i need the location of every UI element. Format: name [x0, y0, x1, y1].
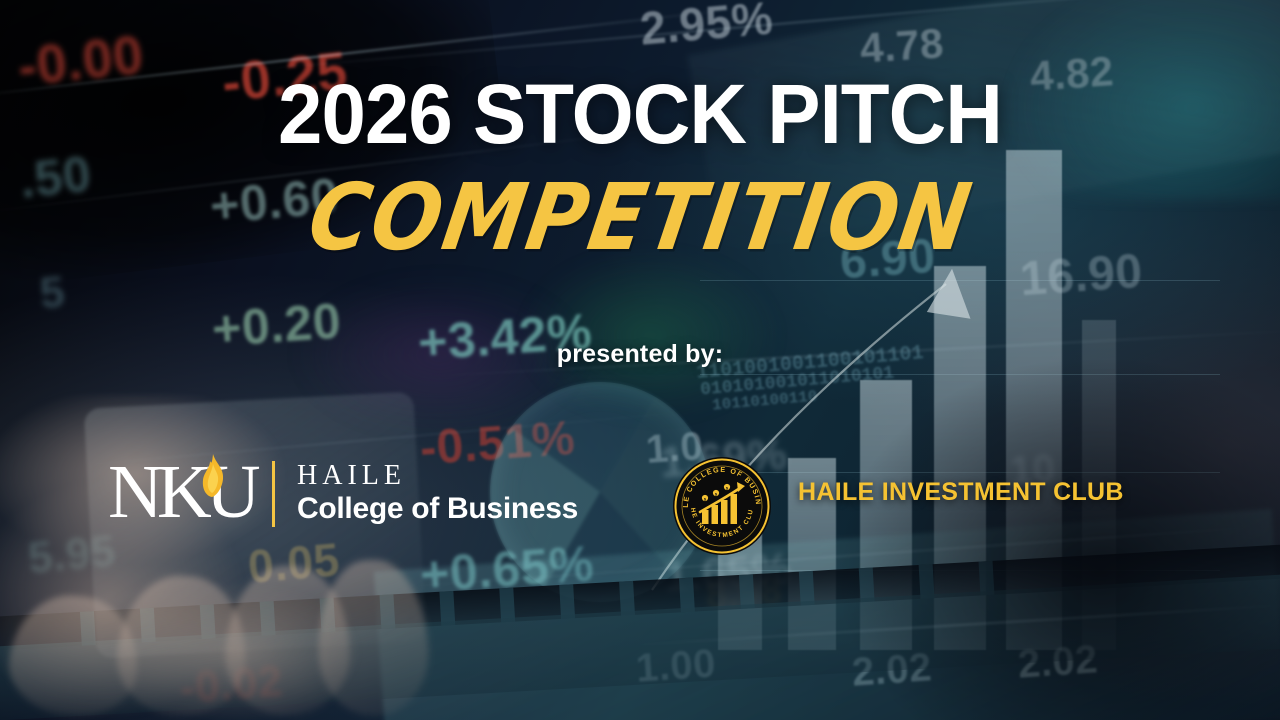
- college-name: College of Business: [297, 492, 578, 527]
- presented-by-label: presented by:: [0, 340, 1280, 369]
- poster-content: 2026 STOCK PITCH COMPETITION presented b…: [0, 0, 1280, 720]
- nku-logo: NKU HAILE College of Business: [108, 452, 578, 536]
- page-subtitle: COMPETITION: [302, 173, 977, 265]
- investment-club-name: HAILE INVESTMENT CLUB: [798, 478, 1124, 507]
- logo-divider: [272, 461, 275, 527]
- nku-letters: NKU: [108, 454, 255, 530]
- flame-icon: [200, 454, 226, 498]
- nku-wordmark: NKU: [108, 452, 266, 536]
- page-title: 2026 STOCK PITCH: [32, 72, 1248, 156]
- poster-canvas: -0.00-0.252.95%4.784.82.50+0.605+0.20+3.…: [0, 0, 1280, 720]
- subtitle-wrapper: COMPETITION: [0, 178, 1280, 260]
- college-text-block: HAILE College of Business: [297, 461, 578, 527]
- investment-club-badge: HAILE COLLEGE OF BUSINESS THE INVESTMENT…: [672, 456, 772, 556]
- school-name: HAILE: [297, 461, 578, 490]
